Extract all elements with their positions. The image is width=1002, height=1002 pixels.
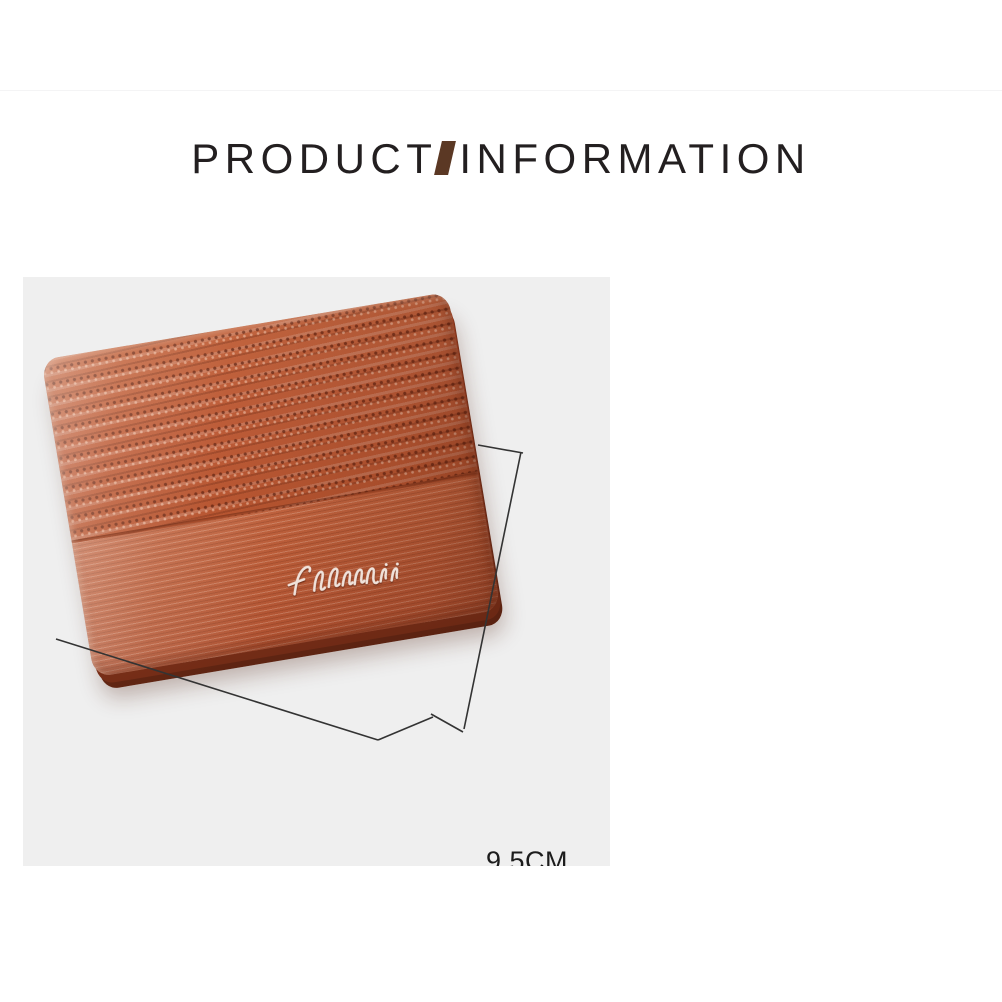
wallet-corner-shine xyxy=(41,292,500,678)
page-title: PRODUCTINFORMATION xyxy=(0,128,1002,187)
page-title-information: INFORMATION xyxy=(459,131,810,187)
slanted-bar-icon xyxy=(434,141,456,175)
dimension-height-label: 9.5CM xyxy=(486,846,568,866)
wallet-top-face xyxy=(41,292,500,678)
product-image-panel: 9.5CM 12CM 2CM xyxy=(23,277,610,866)
page-title-product: PRODUCT xyxy=(191,131,437,187)
top-divider xyxy=(0,90,1002,91)
wallet-image xyxy=(41,289,525,715)
